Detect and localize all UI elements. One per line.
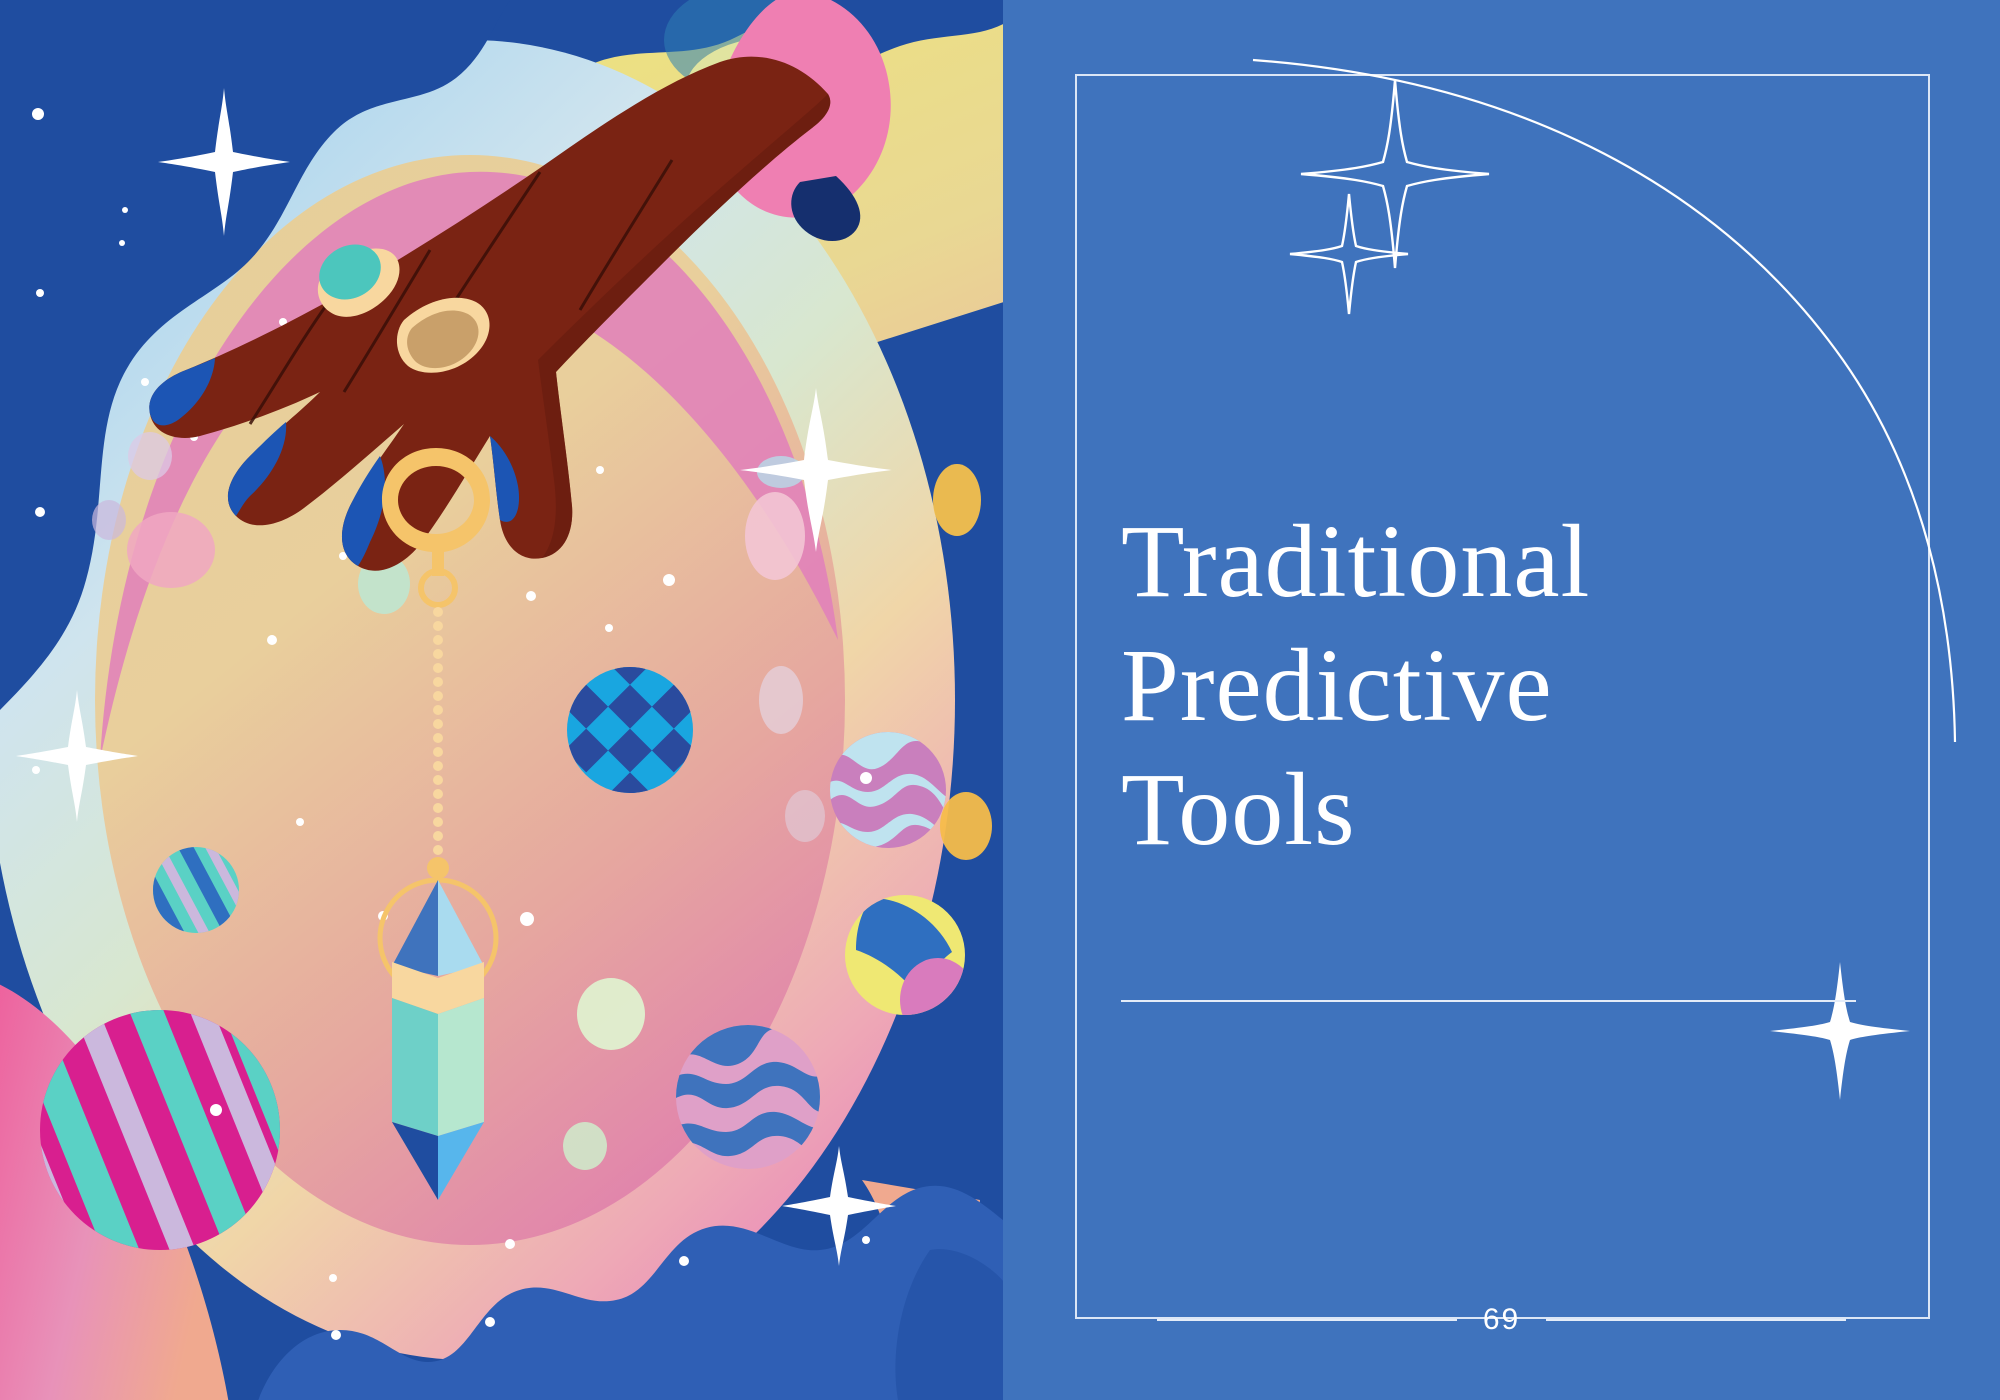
title-line-1: Traditional xyxy=(1121,500,1881,624)
slide-page: Traditional Predictive Tools 69 xyxy=(0,0,2000,1400)
title-underline-rule xyxy=(1121,1000,1856,1002)
illustration-panel xyxy=(0,0,1003,1400)
page-title: Traditional Predictive Tools xyxy=(1121,500,1881,872)
page-number-rule-right xyxy=(1546,1319,1846,1321)
page-number-row: 69 xyxy=(1003,1300,2000,1340)
cosmic-illustration xyxy=(0,0,1003,1400)
title-line-3: Tools xyxy=(1121,748,1881,872)
page-number: 69 xyxy=(1483,1305,1520,1335)
title-panel: Traditional Predictive Tools 69 xyxy=(1003,0,2000,1400)
title-line-2: Predictive xyxy=(1121,624,1881,748)
page-number-rule-left xyxy=(1157,1319,1457,1321)
